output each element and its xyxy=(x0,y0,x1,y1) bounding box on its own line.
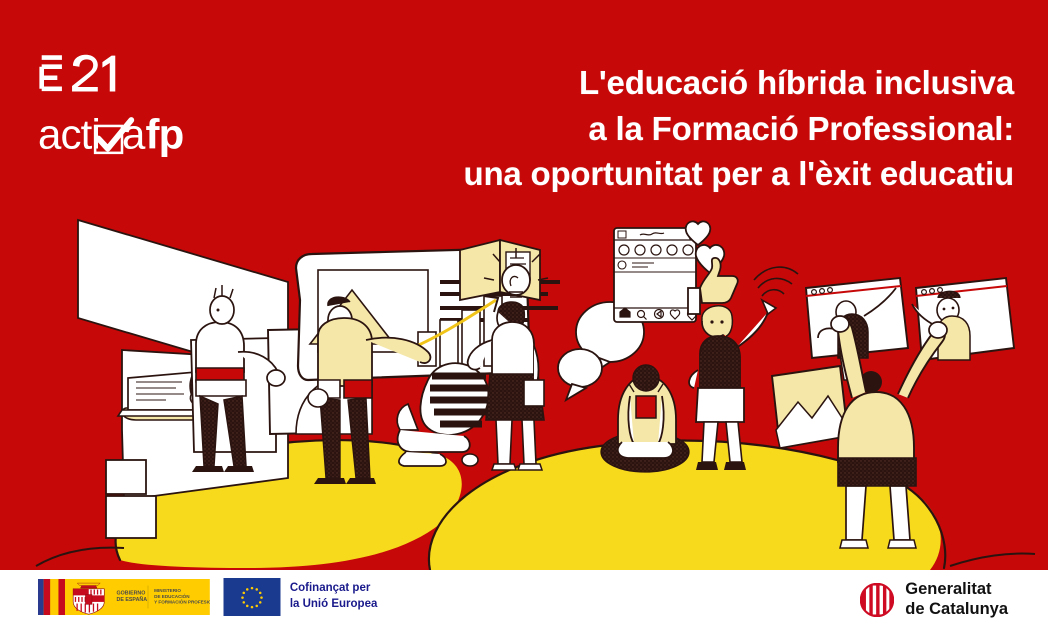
banner-root: E21 activafp acti a fp xyxy=(0,0,1048,627)
footer-left-logos: GOBIERNO DE ESPAÑA MINISTERIO DE EDUCACI… xyxy=(38,578,377,616)
generalitat-logo-text: Generalitat de Catalunya xyxy=(905,580,1008,620)
book-icon xyxy=(460,240,540,300)
gen-line-1: Generalitat xyxy=(905,580,1008,600)
gob-line1: GOBIERNO xyxy=(117,591,146,597)
title-line-1: L'educació híbrida inclusiva xyxy=(324,60,1014,106)
svg-text:acti: acti xyxy=(38,111,100,158)
page-title: L'educació híbrida inclusiva a la Formac… xyxy=(324,60,1014,197)
gobierno-de-espana-logo: GOBIERNO DE ESPAÑA MINISTERIO DE EDUCACI… xyxy=(38,579,210,615)
min-line1: MINISTERIO xyxy=(154,588,181,593)
svg-text:a: a xyxy=(122,111,146,158)
brand-lockup: E21 activafp acti a fp xyxy=(38,52,268,159)
gen-line-2: de Catalunya xyxy=(905,600,1008,620)
phone-social-feed xyxy=(614,228,696,322)
generalitat-logo: Generalitat de Catalunya xyxy=(860,580,1008,620)
generalitat-shield-icon xyxy=(860,583,894,617)
gob-line2: DE ESPAÑA xyxy=(117,596,148,603)
title-line-3: una oportunitat per a l'èxit educatiu xyxy=(324,151,1014,197)
title-line-2: a la Formació Professional: xyxy=(324,106,1014,152)
activafp-logo: activafp acti a fp xyxy=(38,110,206,159)
european-union-logo: Cofinançat per la Unió Europea xyxy=(223,578,378,616)
e21-logo: E21 xyxy=(38,52,130,92)
eu-logo-text: Cofinançat per la Unió Europea xyxy=(290,581,378,612)
eu-flag-icon xyxy=(223,578,281,616)
yellow-picture-frame xyxy=(772,366,848,448)
eu-line-2: la Unió Europea xyxy=(290,597,378,613)
hero-stage: E21 activafp acti a fp xyxy=(0,0,1048,570)
svg-text:fp: fp xyxy=(146,111,184,158)
eu-line-1: Cofinançat per xyxy=(290,581,378,597)
footer-bar: GOBIERNO DE ESPAÑA MINISTERIO DE EDUCACI… xyxy=(0,570,1048,627)
